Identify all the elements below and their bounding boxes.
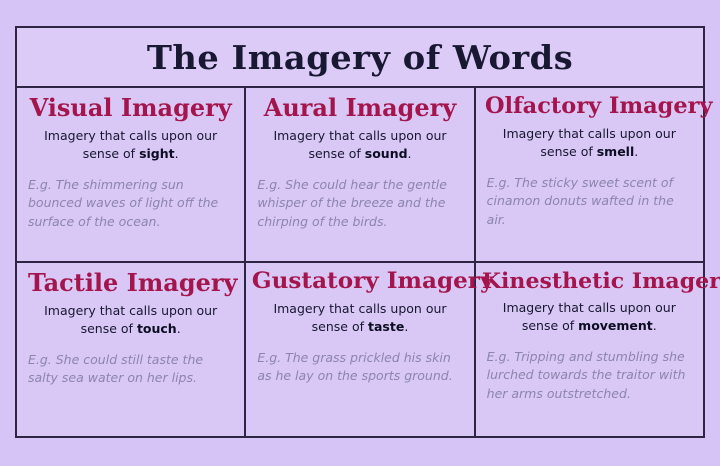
definition-keyword: smell bbox=[597, 144, 635, 159]
cell-heading-kinesthetic: Kinesthetic Imagery bbox=[482, 270, 698, 292]
cell-example-kinesthetic: E.g. Tripping and stumbling she lurched … bbox=[487, 348, 692, 404]
definition-suffix: . bbox=[653, 318, 657, 333]
cell-heading-visual: Visual Imagery bbox=[28, 95, 233, 120]
definition-prefix: Imagery that calls upon our sense of bbox=[44, 303, 217, 336]
cell-example-visual: E.g. The shimmering sun bounced waves of… bbox=[28, 176, 233, 232]
page-title: The Imagery of Words bbox=[147, 41, 573, 74]
cell-definition-olfactory: Imagery that calls upon our sense of sme… bbox=[487, 125, 692, 161]
definition-suffix: . bbox=[634, 144, 638, 159]
imagery-row-top: Visual Imagery Imagery that calls upon o… bbox=[17, 88, 703, 263]
cell-definition-gustatory: Imagery that calls upon our sense of tas… bbox=[257, 300, 462, 336]
cell-visual-imagery: Visual Imagery Imagery that calls upon o… bbox=[17, 88, 246, 261]
definition-prefix: Imagery that calls upon our sense of bbox=[44, 128, 217, 161]
definition-keyword: taste bbox=[368, 319, 404, 334]
cell-example-olfactory: E.g. The sticky sweet scent of cinamon d… bbox=[487, 174, 692, 230]
imagery-table: The Imagery of Words Visual Imagery Imag… bbox=[15, 26, 705, 438]
definition-suffix: . bbox=[404, 319, 408, 334]
imagery-row-bottom: Tactile Imagery Imagery that calls upon … bbox=[17, 263, 703, 436]
definition-keyword: movement bbox=[578, 318, 653, 333]
cell-kinesthetic-imagery: Kinesthetic Imagery Imagery that calls u… bbox=[476, 263, 703, 436]
cell-example-aural: E.g. She could hear the gentle whisper o… bbox=[257, 176, 462, 232]
title-row: The Imagery of Words bbox=[17, 28, 703, 88]
definition-keyword: touch bbox=[137, 321, 177, 336]
cell-definition-tactile: Imagery that calls upon our sense of tou… bbox=[28, 302, 233, 338]
definition-suffix: . bbox=[177, 321, 181, 336]
cell-heading-aural: Aural Imagery bbox=[257, 95, 462, 120]
cell-definition-kinesthetic: Imagery that calls upon our sense of mov… bbox=[487, 299, 692, 335]
cell-heading-gustatory: Gustatory Imagery bbox=[252, 270, 468, 293]
definition-keyword: sound bbox=[365, 146, 408, 161]
definition-suffix: . bbox=[175, 146, 179, 161]
definition-keyword: sight bbox=[139, 146, 175, 161]
cell-tactile-imagery: Tactile Imagery Imagery that calls upon … bbox=[17, 263, 246, 436]
definition-prefix: Imagery that calls upon our sense of bbox=[273, 128, 446, 161]
cell-example-tactile: E.g. She could still taste the salty sea… bbox=[28, 351, 233, 389]
definition-prefix: Imagery that calls upon our sense of bbox=[503, 126, 676, 159]
definition-suffix: . bbox=[408, 146, 412, 161]
cell-definition-aural: Imagery that calls upon our sense of sou… bbox=[257, 127, 462, 163]
cell-aural-imagery: Aural Imagery Imagery that calls upon ou… bbox=[246, 88, 475, 261]
imagery-poster: The Imagery of Words Visual Imagery Imag… bbox=[0, 0, 720, 466]
cell-gustatory-imagery: Gustatory Imagery Imagery that calls upo… bbox=[246, 263, 475, 436]
definition-prefix: Imagery that calls upon our sense of bbox=[273, 301, 446, 334]
cell-example-gustatory: E.g. The grass prickled his skin as he l… bbox=[257, 349, 462, 387]
cell-olfactory-imagery: Olfactory Imagery Imagery that calls upo… bbox=[476, 88, 703, 261]
cell-heading-tactile: Tactile Imagery bbox=[28, 270, 233, 295]
cell-heading-olfactory: Olfactory Imagery bbox=[485, 95, 694, 118]
cell-definition-visual: Imagery that calls upon our sense of sig… bbox=[28, 127, 233, 163]
